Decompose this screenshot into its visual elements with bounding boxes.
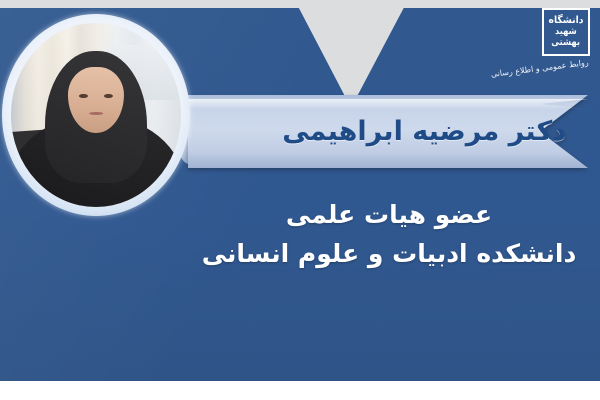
logo-frame-inner: دانشگاه شهید بهشتی [547,13,585,51]
subtitle-line-role: عضو هیات علمی [190,196,588,234]
name-ribbon: دکتر مرضیه ابراهیمی [188,95,588,168]
logo-word-university: دانشگاه [549,16,584,26]
subtitle-line-faculty: دانشکده ادبیات و علوم انسانی [190,234,588,274]
faculty-subtitle: عضو هیات علمی دانشکده ادبیات و علوم انسا… [190,196,588,274]
portrait-shading [11,23,181,207]
faculty-name: دکتر مرضیه ابراهیمی [188,95,588,168]
logo-word-beheshti: بهشتی [552,38,581,48]
university-logo: دانشگاه شهید بهشتی روابط عمومی و اطلاع ر… [512,8,590,80]
logo-tagline-public-relations: روابط عمومی و اطلاع رسانی [513,58,590,77]
portrait-image [11,23,181,207]
logo-frame: دانشگاه شهید بهشتی [542,8,590,56]
portrait [2,14,190,216]
announcement-card: دانشگاه شهید بهشتی روابط عمومی و اطلاع ر… [0,0,600,400]
logo-word-shahid: شهید [555,27,577,37]
bottom-white-strip [0,381,600,400]
